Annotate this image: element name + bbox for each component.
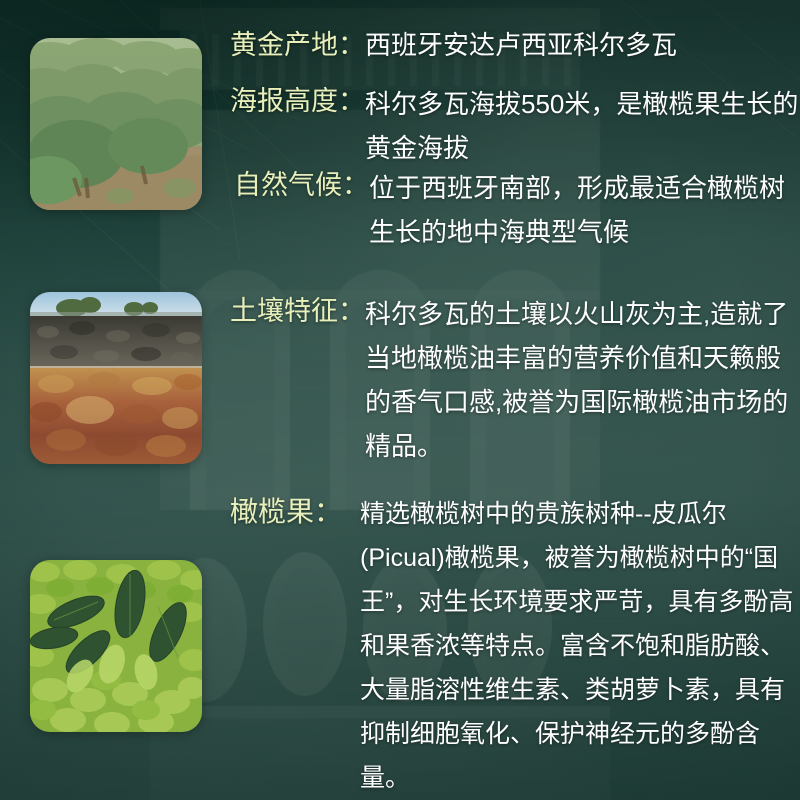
- row-altitude: 海报高度： 科尔多瓦海拔550米，是橄榄果生长的黄金海拔: [230, 82, 800, 170]
- label-olive-fruit: 橄榄果：: [230, 492, 342, 531]
- label-golden-origin: 黄金产地：: [230, 26, 365, 65]
- label-climate: 自然气候：: [234, 166, 369, 205]
- value-soil: 科尔多瓦的土壤以火山灰为主,造就了当地橄榄油丰富的营养价值和天籁般的香气口感,被…: [365, 292, 800, 468]
- row-soil: 土壤特征： 科尔多瓦的土壤以火山灰为主,造就了当地橄榄油丰富的营养价值和天籁般的…: [230, 292, 800, 468]
- olive-origin-poster: 黄金产地： 西班牙安达卢西亚科尔多瓦 海报高度： 科尔多瓦海拔550米，是橄榄果…: [0, 0, 800, 800]
- olive-grove-photo: [30, 38, 202, 210]
- green-olives-photo: [30, 560, 202, 732]
- row-climate: 自然气候： 位于西班牙南部，形成最适合橄榄树生长的地中海典型气候: [234, 166, 800, 254]
- poster-text-column: 黄金产地： 西班牙安达卢西亚科尔多瓦 海报高度： 科尔多瓦海拔550米，是橄榄果…: [228, 0, 800, 800]
- value-climate: 位于西班牙南部，形成最适合橄榄树生长的地中海典型气候: [369, 166, 800, 254]
- label-altitude: 海报高度：: [230, 82, 365, 121]
- row-olive-fruit: 橄榄果： 精选橄榄树中的贵族树种--皮瓜尔(Picual)橄榄果，被誉为橄榄树中…: [230, 492, 800, 800]
- value-olive-fruit: 精选橄榄树中的贵族树种--皮瓜尔(Picual)橄榄果，被誉为橄榄树中的“国王”…: [360, 492, 800, 800]
- row-golden-origin: 黄金产地： 西班牙安达卢西亚科尔多瓦: [230, 26, 800, 65]
- soil-profile-photo: [30, 292, 202, 464]
- value-golden-origin: 西班牙安达卢西亚科尔多瓦: [365, 26, 800, 65]
- value-altitude: 科尔多瓦海拔550米，是橄榄果生长的黄金海拔: [365, 82, 800, 170]
- label-soil: 土壤特征：: [230, 292, 365, 331]
